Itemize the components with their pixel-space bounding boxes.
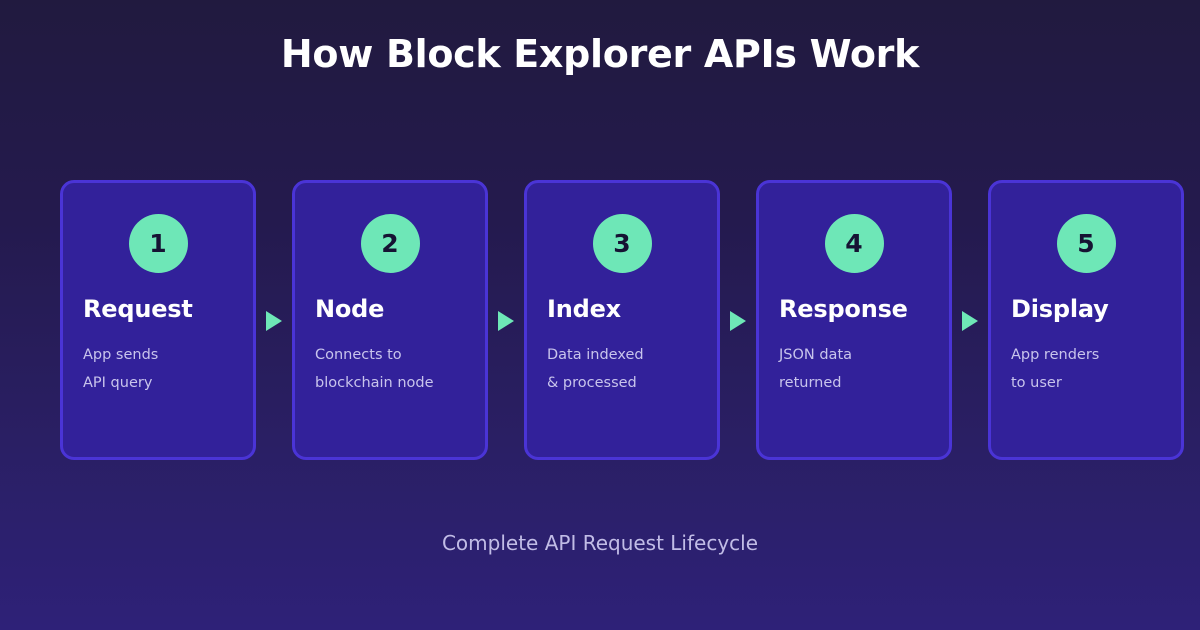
step-description: App renders to user xyxy=(1011,341,1099,397)
step-title: Response xyxy=(779,295,908,323)
step-title: Request xyxy=(83,295,193,323)
flow-step-card: 3 Index Data indexed & processed xyxy=(524,180,720,460)
step-number-badge: 2 xyxy=(361,214,420,273)
arrow-right-icon xyxy=(962,311,978,331)
step-description: App sends API query xyxy=(83,341,158,397)
step-number-badge: 1 xyxy=(129,214,188,273)
step-title: Node xyxy=(315,295,384,323)
step-title: Display xyxy=(1011,295,1109,323)
step-number-badge: 5 xyxy=(1057,214,1116,273)
step-description: JSON data returned xyxy=(779,341,852,397)
flow-connector xyxy=(256,180,292,460)
infographic-canvas: How Block Explorer APIs Work 1 Request A… xyxy=(0,0,1200,630)
arrow-right-icon xyxy=(498,311,514,331)
flow-diagram: 1 Request App sends API query 2 Node Con… xyxy=(60,180,1172,460)
flow-connector xyxy=(952,180,988,460)
flow-step-card: 2 Node Connects to blockchain node xyxy=(292,180,488,460)
flow-step-card: 5 Display App renders to user xyxy=(988,180,1184,460)
flow-connector xyxy=(488,180,524,460)
flow-step-card: 1 Request App sends API query xyxy=(60,180,256,460)
flow-connector xyxy=(720,180,756,460)
flow-step-card: 4 Response JSON data returned xyxy=(756,180,952,460)
page-title: How Block Explorer APIs Work xyxy=(0,28,1200,80)
arrow-right-icon xyxy=(266,311,282,331)
step-description: Connects to blockchain node xyxy=(315,341,434,397)
footer-caption: Complete API Request Lifecycle xyxy=(0,528,1200,558)
step-number-badge: 3 xyxy=(593,214,652,273)
arrow-right-icon xyxy=(730,311,746,331)
step-number-badge: 4 xyxy=(825,214,884,273)
step-description: Data indexed & processed xyxy=(547,341,644,397)
step-title: Index xyxy=(547,295,621,323)
